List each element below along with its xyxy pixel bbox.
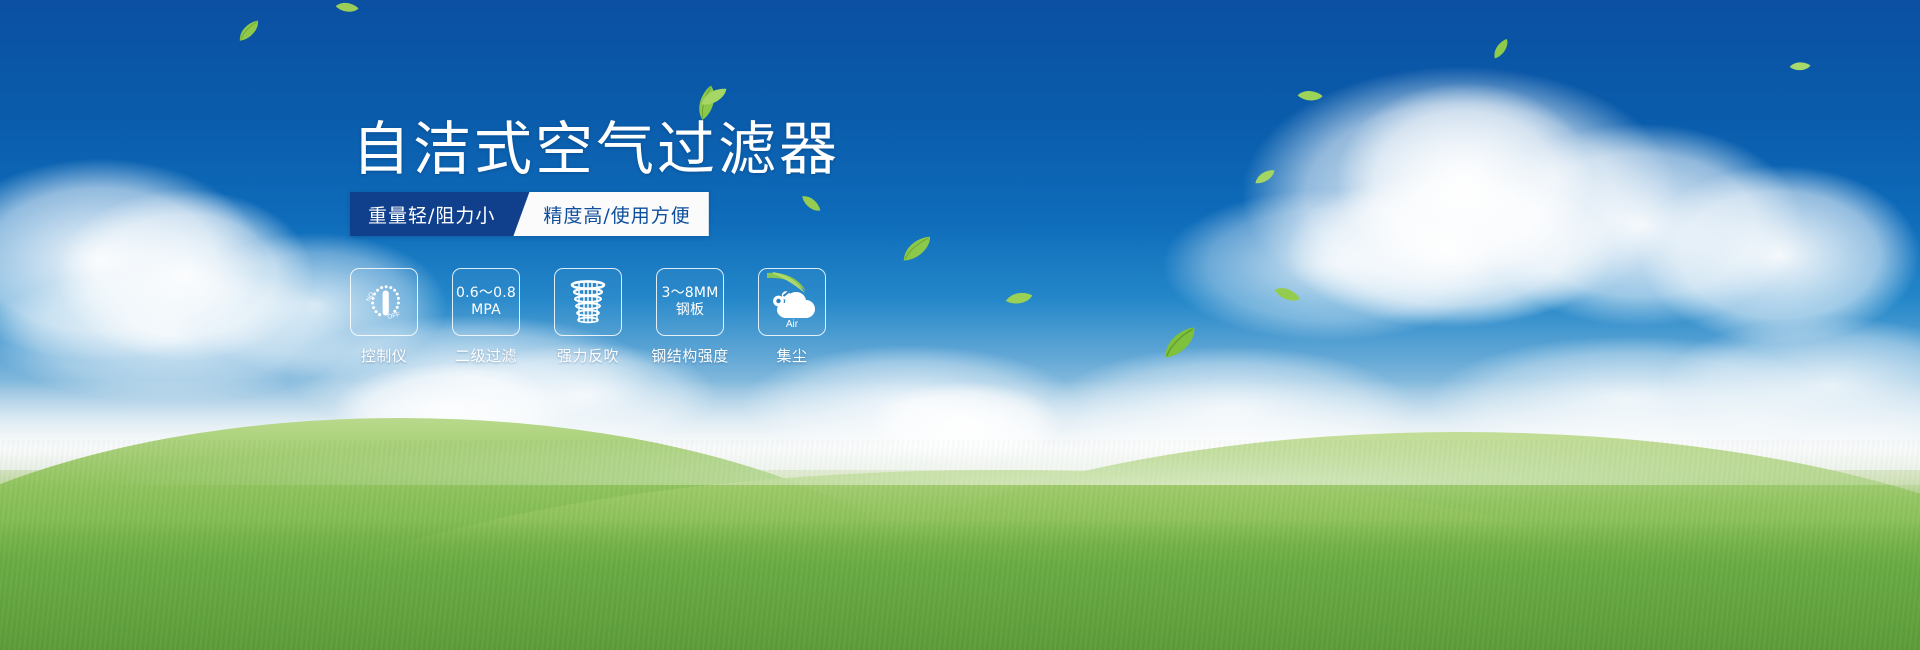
tagline-right: 精度高/使用方便 <box>513 192 708 236</box>
pressure-unit: MPA <box>456 302 516 319</box>
pressure-range: 0.6～0.8 <box>456 285 516 302</box>
feature-caption: 控制仪 <box>361 345 408 366</box>
feature-icon-box: 3～8MM 钢板 <box>656 268 724 336</box>
control-dial-icon: NO OFF <box>356 274 412 330</box>
product-banner: 自洁式空气过滤器 重量轻/阻力小 精度高/使用方便 <box>0 0 1920 650</box>
steel-material: 钢板 <box>662 302 719 319</box>
banner-content: 自洁式空气过滤器 重量轻/阻力小 精度高/使用方便 <box>0 0 1920 650</box>
feature-caption: 集尘 <box>776 345 807 366</box>
air-cloud-icon: Air <box>759 269 825 335</box>
feature-item-filtration[interactable]: 0.6～0.8 MPA 二级过滤 <box>452 268 520 366</box>
pressure-value-icon: 0.6～0.8 MPA <box>456 285 516 318</box>
feature-caption: 二级过滤 <box>455 345 517 366</box>
feature-item-dust[interactable]: Air 集尘 <box>758 268 826 366</box>
page-title: 自洁式空气过滤器 <box>352 118 840 180</box>
feature-list: NO OFF 控制仪 0.6～0.8 MPA 二级过滤 <box>350 268 826 366</box>
steel-plate-icon: 3～8MM 钢板 <box>662 285 719 318</box>
steel-thickness: 3～8MM <box>662 285 719 302</box>
feature-item-reverse-blow[interactable]: 强力反吹 <box>554 268 622 366</box>
feature-item-control[interactable]: NO OFF 控制仪 <box>350 268 418 366</box>
feature-item-steel[interactable]: 3～8MM 钢板 钢结构强度 <box>656 268 724 366</box>
reverse-blow-coil-icon <box>565 277 611 327</box>
feature-icon-box: 0.6～0.8 MPA <box>452 268 520 336</box>
tagline-left: 重量轻/阻力小 <box>350 192 529 236</box>
feature-icon-box <box>554 268 622 336</box>
air-label: Air <box>786 319 799 330</box>
feature-icon-box: NO OFF <box>350 268 418 336</box>
feature-caption: 钢结构强度 <box>651 345 729 366</box>
feature-icon-box: Air <box>758 268 826 336</box>
dial-label-off: OFF <box>387 311 401 321</box>
feature-caption: 强力反吹 <box>557 345 619 366</box>
tagline-badge: 重量轻/阻力小 精度高/使用方便 <box>350 192 709 236</box>
